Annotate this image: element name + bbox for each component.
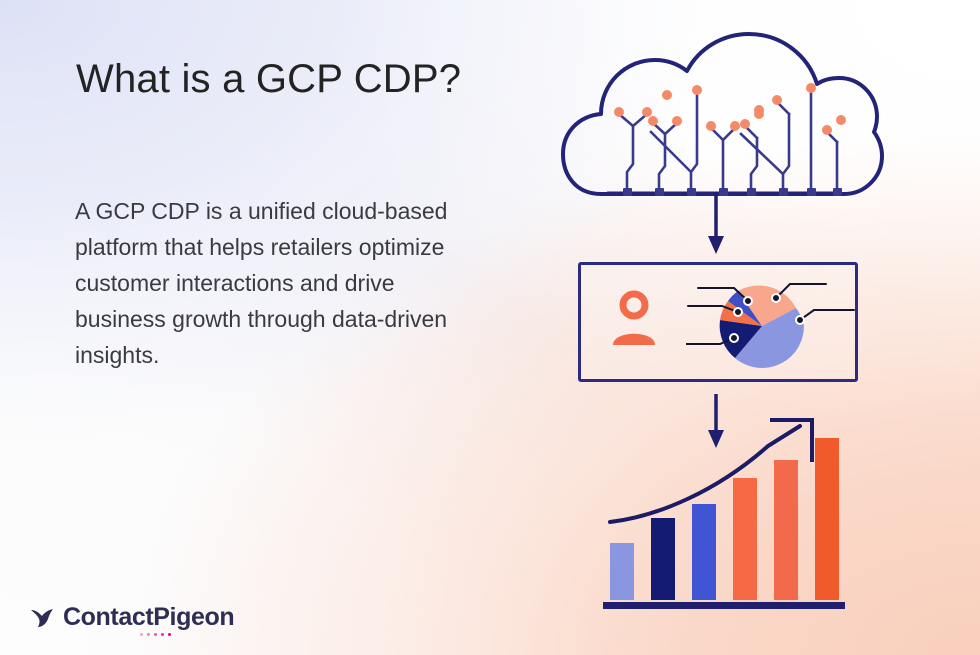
bar-2 xyxy=(651,518,675,600)
bar-1 xyxy=(610,543,634,600)
customer-segments-pie xyxy=(686,268,858,380)
brand-accent-dots xyxy=(140,633,171,636)
brand-logo[interactable]: ContactPigeon xyxy=(30,605,234,630)
cloud-svg xyxy=(555,22,885,212)
body-paragraph: A GCP CDP is a unified cloud-based platf… xyxy=(75,193,475,373)
infographic-canvas: What is a GCP CDP? A GCP CDP is a unifie… xyxy=(0,0,980,655)
brand-name-text: ContactPigeon xyxy=(63,603,234,631)
bars xyxy=(610,438,839,600)
bar-chart-svg xyxy=(600,412,860,617)
bar-3 xyxy=(692,504,716,600)
cloud-circuit-icon xyxy=(555,22,885,212)
bar-4 xyxy=(733,478,757,600)
growth-bar-chart xyxy=(600,412,860,617)
arrow-down-icon xyxy=(690,190,750,260)
bar-6 xyxy=(815,438,839,600)
brand-name-wordmark: ContactPigeon xyxy=(63,605,234,630)
pie-slices xyxy=(720,285,804,367)
bar-5 xyxy=(774,460,798,600)
customer-analytics-panel xyxy=(578,262,858,382)
person-icon xyxy=(610,288,658,352)
page-title: What is a GCP CDP? xyxy=(76,57,461,102)
cloud-circuit-traces xyxy=(619,90,837,193)
pigeon-bird-icon xyxy=(30,607,56,629)
chart-baseline xyxy=(603,602,845,609)
arrow-cloud-to-panel xyxy=(690,190,750,260)
